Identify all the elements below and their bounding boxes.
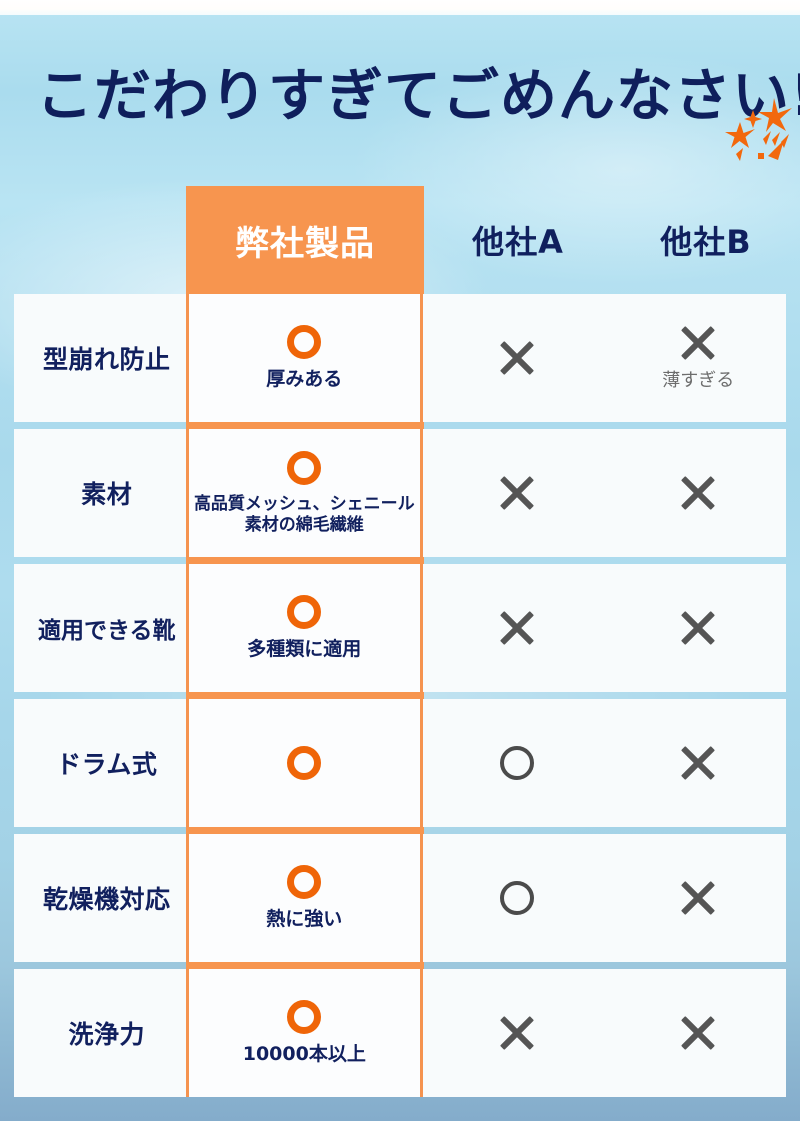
cell-competitor-b [610, 969, 800, 1097]
accent-band [186, 692, 424, 699]
cell-competitor-b [610, 834, 800, 962]
cell-caption: 高品質メッシュ、シェニール素材の綿毛繊維 [189, 494, 420, 534]
cell-caption: 10000本以上 [243, 1043, 366, 1065]
cross-icon [499, 610, 535, 646]
row-label: 型崩れ防止 [43, 340, 171, 376]
header-cell-competitor-b: 他社B [612, 186, 800, 294]
header-cell-our-product: 弊社製品 [186, 186, 424, 294]
cell-caption: 厚みある [266, 368, 342, 390]
accent-band [186, 827, 424, 834]
cell-our-product: 熱に強い [186, 834, 423, 962]
cross-icon [680, 610, 716, 646]
title-block: こだわりすぎてごめんなさい! [0, 52, 800, 144]
circle-icon [287, 746, 321, 780]
circle-icon [287, 595, 321, 629]
row-label-cell: 適用できる靴 [0, 564, 186, 692]
header-label-competitor-a: 他社A [472, 217, 564, 263]
circle-icon [500, 746, 534, 780]
cell-caption: 薄すぎる [662, 370, 734, 391]
cell-competitor-a [423, 294, 611, 422]
row-label-cell: 洗浄力 [0, 969, 186, 1097]
cell-competitor-a [423, 834, 611, 962]
cross-icon [680, 745, 716, 781]
header-cell-competitor-a: 他社A [424, 186, 612, 294]
table-header-row: 弊社製品 他社A 他社B [0, 186, 800, 294]
table-row: ドラム式 [0, 699, 800, 827]
row-label-cell: 型崩れ防止 [0, 294, 186, 422]
circle-icon [287, 865, 321, 899]
cell-competitor-b [610, 429, 800, 557]
cell-competitor-a [423, 969, 611, 1097]
cell-competitor-b [610, 699, 800, 827]
comparison-table: 弊社製品 他社A 他社B 型崩れ防止 厚みある [0, 186, 800, 1104]
row-label-cell: 素材 [0, 429, 186, 557]
circle-icon [287, 1000, 321, 1034]
table-row: 素材 高品質メッシュ、シェニール素材の綿毛繊維 [0, 429, 800, 557]
cross-icon [680, 1015, 716, 1051]
circle-icon [287, 325, 321, 359]
cross-icon [680, 325, 716, 361]
row-label: ドラム式 [56, 745, 157, 781]
cell-competitor-b [610, 564, 800, 692]
cell-competitor-b: 薄すぎる [610, 294, 800, 422]
table-row: 洗浄力 10000本以上 [0, 969, 800, 1097]
cell-competitor-a [423, 564, 611, 692]
row-label: 適用できる靴 [38, 611, 176, 645]
cell-our-product: 厚みある [186, 294, 423, 422]
table-row: 型崩れ防止 厚みある 薄すぎる [0, 294, 800, 422]
cell-competitor-a [423, 699, 611, 827]
page-title: こだわりすぎてごめんなさい! [36, 52, 800, 140]
cell-caption: 熱に強い [266, 908, 342, 930]
table-row: 適用できる靴 多種類に適用 [0, 564, 800, 692]
cell-caption: 多種類に適用 [247, 638, 361, 660]
cell-our-product: 多種類に適用 [186, 564, 423, 692]
cross-icon [499, 340, 535, 376]
header-cell-blank [0, 186, 186, 294]
circle-icon [287, 451, 321, 485]
row-label: 乾燥機対応 [43, 880, 171, 916]
cross-icon [680, 880, 716, 916]
cross-icon [499, 475, 535, 511]
accent-band [186, 557, 424, 564]
row-label: 洗浄力 [69, 1015, 146, 1051]
cell-our-product: 10000本以上 [186, 969, 423, 1097]
row-label-cell: ドラム式 [0, 699, 186, 827]
cell-competitor-a [423, 429, 611, 557]
table-row: 乾燥機対応 熱に強い [0, 834, 800, 962]
comparison-infographic: こだわりすぎてごめんなさい! [0, 0, 800, 1121]
sparkles-icon [722, 96, 796, 176]
top-white-strip [0, 0, 800, 15]
header-label-competitor-b: 他社B [660, 217, 751, 263]
circle-icon [500, 881, 534, 915]
cell-our-product: 高品質メッシュ、シェニール素材の綿毛繊維 [186, 429, 423, 557]
header-label-our-product: 弊社製品 [235, 216, 375, 265]
cell-our-product [186, 699, 423, 827]
row-label: 素材 [81, 475, 132, 511]
cross-icon [680, 475, 716, 511]
accent-band [186, 962, 424, 969]
row-label-cell: 乾燥機対応 [0, 834, 186, 962]
accent-band [186, 422, 424, 429]
cross-icon [499, 1015, 535, 1051]
